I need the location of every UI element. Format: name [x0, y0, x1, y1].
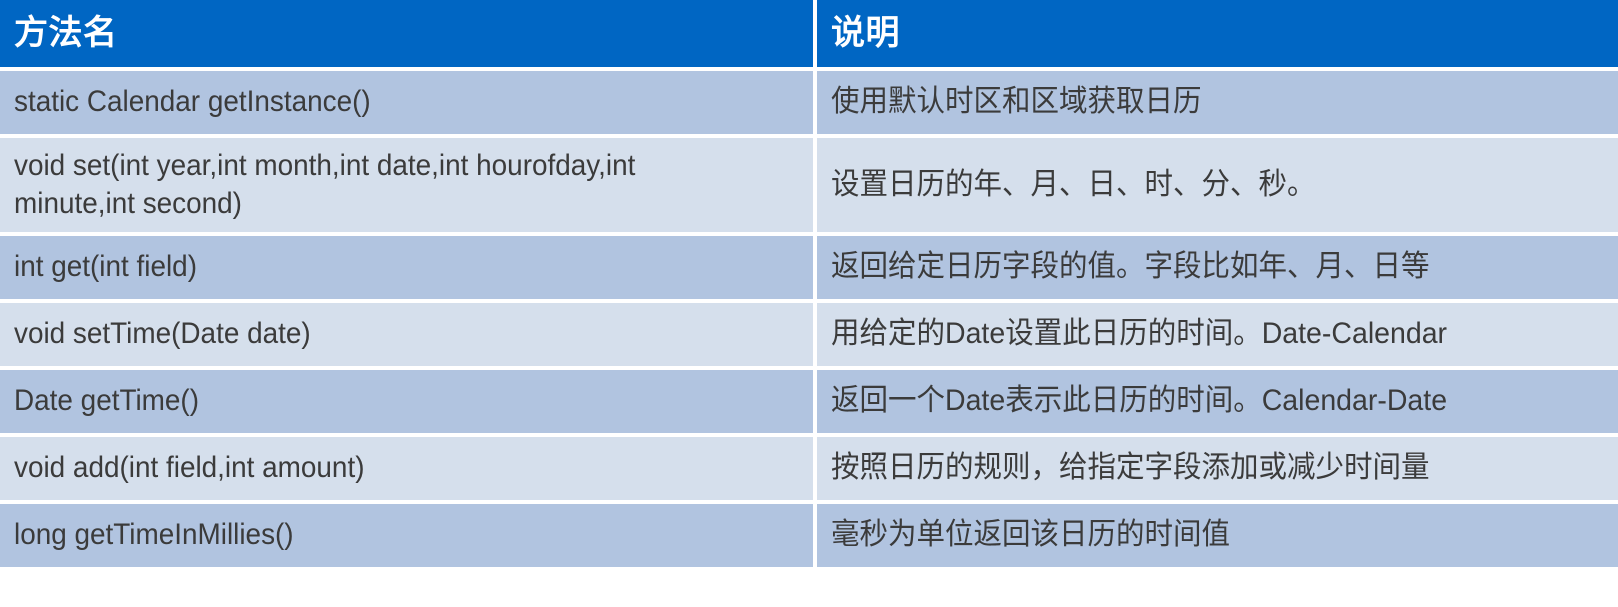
method-signature: void setTime(Date date) — [14, 315, 748, 353]
table-row: long getTimeInMillies() 毫秒为单位返回该日历的时间值 — [0, 504, 1618, 567]
table-header-cell-description: 说明 — [817, 0, 1618, 67]
method-description: 毫秒为单位返回该日历的时间值 — [831, 516, 1573, 554]
table-cell-description: 设置日历的年、月、日、时、分、秒。 — [817, 138, 1618, 232]
table-cell-description: 用给定的Date设置此日历的时间。Date-Calendar — [817, 303, 1618, 366]
table-header-label-description: 说明 — [831, 15, 900, 52]
method-description: 按照日历的规则，给指定字段添加或减少时间量 — [831, 449, 1573, 487]
table-cell-description: 使用默认时区和区域获取日历 — [817, 71, 1618, 134]
table-row: int get(int field) 返回给定日历字段的值。字段比如年、月、日等 — [0, 236, 1618, 299]
table-header-cell-method: 方法名 — [0, 0, 813, 67]
method-description: 使用默认时区和区域获取日历 — [831, 83, 1573, 121]
table-cell-method: void setTime(Date date) — [0, 303, 813, 366]
method-signature: void set(int year,int month,int date,int… — [14, 147, 748, 224]
method-signature: Date getTime() — [14, 382, 748, 420]
table-row: void set(int year,int month,int date,int… — [0, 138, 1618, 232]
table-cell-description: 返回一个Date表示此日历的时间。Calendar-Date — [817, 370, 1618, 433]
table-row: void add(int field,int amount) 按照日历的规则，给… — [0, 437, 1618, 500]
method-signature: static Calendar getInstance() — [14, 83, 748, 121]
method-description: 用给定的Date设置此日历的时间。Date-Calendar — [831, 315, 1573, 353]
table-cell-method: Date getTime() — [0, 370, 813, 433]
table-header-row: 方法名 说明 — [0, 0, 1618, 67]
table-row: Date getTime() 返回一个Date表示此日历的时间。Calendar… — [0, 370, 1618, 433]
method-signature: long getTimeInMillies() — [14, 516, 748, 554]
table-cell-method: long getTimeInMillies() — [0, 504, 813, 567]
method-signature: int get(int field) — [14, 248, 748, 286]
table-cell-method: int get(int field) — [0, 236, 813, 299]
table-cell-method: void add(int field,int amount) — [0, 437, 813, 500]
method-description: 返回给定日历字段的值。字段比如年、月、日等 — [831, 248, 1573, 286]
calendar-methods-table: 方法名 说明 static Calendar getInstance() 使用默… — [0, 0, 1618, 607]
method-description: 返回一个Date表示此日历的时间。Calendar-Date — [831, 382, 1573, 420]
table-cell-method: void set(int year,int month,int date,int… — [0, 138, 813, 232]
method-description: 设置日历的年、月、日、时、分、秒。 — [831, 166, 1573, 204]
table-cell-description: 按照日历的规则，给指定字段添加或减少时间量 — [817, 437, 1618, 500]
table-cell-method: static Calendar getInstance() — [0, 71, 813, 134]
table-cell-description: 返回给定日历字段的值。字段比如年、月、日等 — [817, 236, 1618, 299]
table-cell-description: 毫秒为单位返回该日历的时间值 — [817, 504, 1618, 567]
table-header-label-method: 方法名 — [14, 15, 118, 52]
method-signature: void add(int field,int amount) — [14, 449, 748, 487]
table-row: void setTime(Date date) 用给定的Date设置此日历的时间… — [0, 303, 1618, 366]
table-row: static Calendar getInstance() 使用默认时区和区域获… — [0, 71, 1618, 134]
